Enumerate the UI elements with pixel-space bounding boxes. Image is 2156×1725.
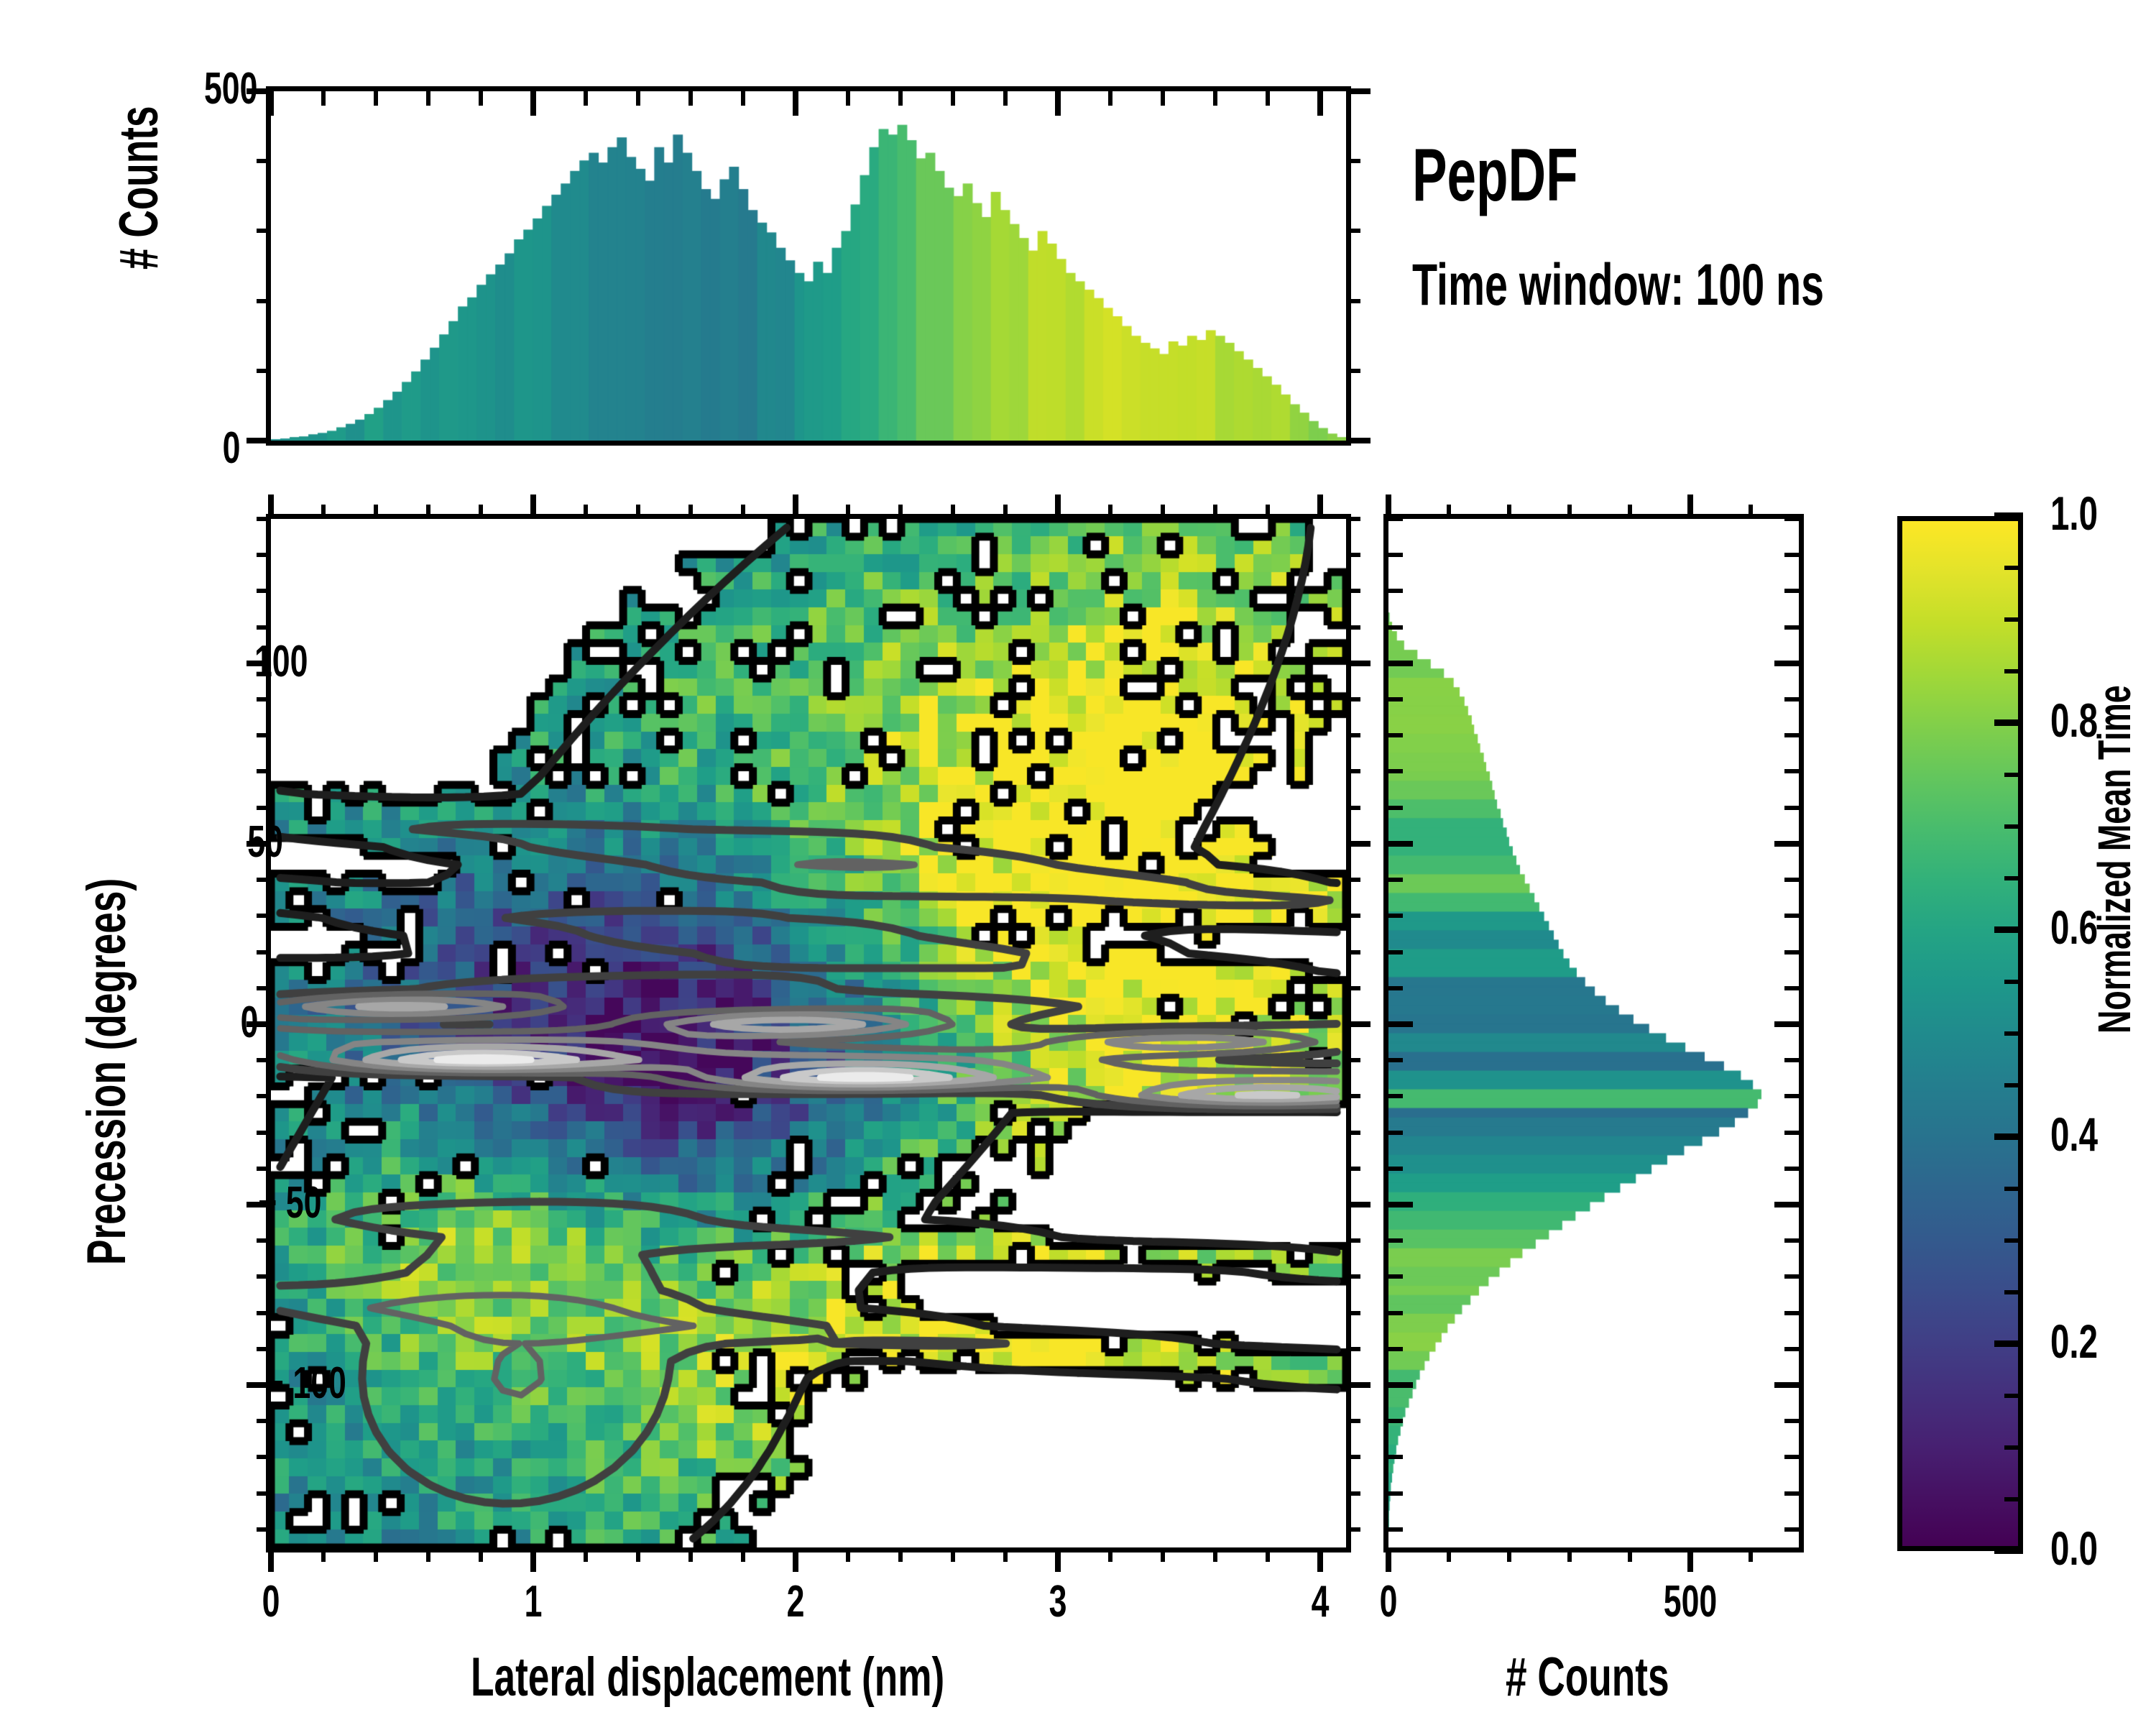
axis-tick (1994, 1547, 2023, 1554)
axis-tick (2004, 773, 2023, 777)
axis-tick (1784, 1131, 1799, 1135)
axis-tick-label: 0 (241, 997, 259, 1048)
axis-tick (321, 505, 326, 519)
axis-tick-label: 4 (1299, 1576, 1341, 1627)
axis-tick (1386, 1547, 1391, 1572)
top-ytick-0: 0 (223, 423, 241, 474)
axis-tick (479, 505, 483, 519)
axis-tick (1388, 841, 1413, 847)
axis-tick (1388, 806, 1403, 810)
axis-tick (1774, 661, 1799, 666)
axis-tick (1346, 1167, 1360, 1171)
axis-tick-label: 0 (250, 1576, 292, 1627)
axis-tick (1507, 1547, 1511, 1562)
axis-tick (1055, 494, 1061, 519)
axis-tick (257, 878, 271, 882)
axis-tick-label: 50 (247, 816, 283, 868)
axis-tick (1266, 505, 1270, 519)
axis-tick (1346, 553, 1360, 557)
axis-tick (1346, 1021, 1370, 1027)
axis-tick (1388, 1058, 1403, 1062)
axis-tick (1687, 1547, 1693, 1572)
axis-tick (257, 299, 271, 303)
axis-tick (321, 1547, 326, 1562)
axis-tick-label: 0.4 (2050, 1107, 2098, 1161)
axis-tick (2004, 669, 2023, 673)
axis-tick (1784, 589, 1799, 593)
axis-tick (257, 1527, 271, 1532)
axis-tick (1388, 1527, 1403, 1532)
axis-tick (257, 914, 271, 918)
axis-tick (1346, 661, 1370, 666)
axis-tick-label: 0.0 (2050, 1521, 2098, 1575)
axis-tick (1784, 625, 1799, 630)
axis-tick (1388, 553, 1403, 557)
axis-tick (1447, 1547, 1451, 1562)
axis-tick (321, 91, 326, 106)
axis-tick (1003, 505, 1008, 519)
axis-tick (1774, 1021, 1799, 1027)
axis-tick (1388, 914, 1403, 918)
axis-tick (257, 806, 271, 810)
axis-tick (1346, 1058, 1360, 1062)
axis-tick (247, 438, 271, 443)
axis-tick (426, 505, 430, 519)
axis-tick (1317, 91, 1323, 116)
axis-tick (1388, 878, 1403, 882)
axis-tick (1388, 1419, 1403, 1423)
axis-tick (530, 1547, 536, 1572)
axis-tick (1266, 1547, 1270, 1562)
axis-tick (1346, 369, 1360, 373)
axis-tick (479, 1547, 483, 1562)
axis-tick (1161, 91, 1165, 106)
axis-tick (1346, 1238, 1360, 1243)
axis-tick (257, 1347, 271, 1351)
page-subtitle: Time window: 100 ns (1412, 252, 1824, 319)
axis-tick (268, 91, 274, 116)
top-ylabel: # Counts (108, 106, 170, 270)
axis-tick (1388, 1382, 1413, 1388)
axis-tick (257, 1094, 271, 1098)
axis-tick (1346, 1527, 1360, 1532)
axis-tick (1346, 589, 1360, 593)
axis-tick (374, 91, 378, 106)
axis-tick (1784, 517, 1799, 521)
axis-tick (898, 91, 903, 106)
right-histogram-xlabel: # Counts (1506, 1646, 1669, 1708)
axis-tick (1346, 769, 1360, 773)
axis-tick (1388, 1274, 1403, 1279)
axis-tick (1346, 1491, 1360, 1496)
axis-tick (1346, 625, 1360, 630)
axis-tick (636, 91, 640, 106)
axis-tick (898, 505, 903, 519)
axis-tick (257, 1238, 271, 1243)
axis-tick (374, 1547, 378, 1562)
axis-tick (1346, 1274, 1360, 1279)
axis-tick (1108, 91, 1112, 106)
axis-tick (951, 91, 955, 106)
axis-tick (1346, 878, 1360, 882)
axis-tick (1784, 950, 1799, 954)
axis-tick (247, 88, 271, 94)
axis-tick (1003, 91, 1008, 106)
axis-tick (1784, 1455, 1799, 1459)
axis-tick (426, 1547, 430, 1562)
axis-tick (584, 505, 588, 519)
axis-tick (1346, 1131, 1360, 1135)
axis-tick (636, 1547, 640, 1562)
axis-tick (257, 589, 271, 593)
axis-tick (257, 769, 271, 773)
top-histogram-canvas (271, 91, 1346, 441)
axis-tick (1784, 986, 1799, 990)
axis-tick (1749, 505, 1753, 519)
axis-tick (1213, 1547, 1217, 1562)
axis-tick (2004, 1497, 2023, 1501)
axis-tick (1784, 1167, 1799, 1171)
axis-tick (1213, 505, 1217, 519)
axis-tick (1317, 1547, 1323, 1572)
axis-tick (1784, 1347, 1799, 1351)
axis-tick (1784, 697, 1799, 701)
axis-tick (1346, 841, 1370, 847)
axis-tick (1346, 1094, 1360, 1098)
axis-tick (257, 1491, 271, 1496)
axis-tick (1784, 553, 1799, 557)
heatmap-ylabel: Precession (degrees) (75, 878, 138, 1265)
axis-tick (257, 1058, 271, 1062)
axis-tick (257, 697, 271, 701)
axis-tick-label: 1.0 (2050, 486, 2098, 540)
axis-tick (1784, 769, 1799, 773)
axis-tick (1784, 1491, 1799, 1496)
axis-tick (1346, 229, 1360, 233)
axis-tick (257, 1455, 271, 1459)
axis-tick (951, 1547, 955, 1562)
axis-tick (1388, 625, 1403, 630)
axis-tick (1388, 1311, 1403, 1315)
axis-tick (688, 1547, 693, 1562)
axis-tick-label: − 100 (265, 1358, 346, 1409)
axis-tick (1388, 1131, 1403, 1135)
axis-tick (1346, 438, 1370, 443)
axis-tick (1388, 1455, 1403, 1459)
axis-tick-label: 2 (775, 1576, 816, 1627)
axis-tick (1346, 1455, 1360, 1459)
axis-tick (426, 91, 430, 106)
axis-tick (2004, 566, 2023, 570)
axis-tick (1317, 494, 1323, 519)
axis-tick-label: 0.6 (2050, 900, 2098, 954)
axis-tick (257, 950, 271, 954)
axis-tick (2004, 1290, 2023, 1294)
axis-tick (1388, 1021, 1413, 1027)
axis-tick (584, 91, 588, 106)
axis-tick (1388, 1167, 1403, 1171)
axis-tick (257, 1419, 271, 1423)
axis-tick (1994, 719, 2023, 726)
axis-tick (1388, 589, 1403, 593)
axis-tick (1749, 1547, 1753, 1562)
axis-tick (1784, 1238, 1799, 1243)
heatmap-canvas (271, 519, 1346, 1547)
colorbar-gradient (1902, 521, 2018, 1546)
axis-tick (1388, 733, 1403, 737)
axis-tick (257, 553, 271, 557)
axis-tick (1687, 494, 1693, 519)
axis-tick (1346, 88, 1370, 94)
axis-tick (1388, 1347, 1403, 1351)
axis-tick (793, 91, 798, 116)
axis-tick (1346, 159, 1360, 163)
axis-tick (2004, 1238, 2023, 1243)
axis-tick (257, 369, 271, 373)
axis-tick (741, 91, 745, 106)
axis-tick (846, 1547, 850, 1562)
heatmap-xlabel: Lateral displacement (nm) (471, 1646, 944, 1708)
axis-tick (1994, 1340, 2023, 1347)
axis-tick-label: 0 (1358, 1576, 1419, 1627)
axis-tick (1346, 1311, 1360, 1315)
axis-tick (2004, 980, 2023, 984)
axis-tick-label: − 50 (258, 1177, 321, 1228)
axis-tick (257, 625, 271, 630)
axis-tick (1346, 517, 1360, 521)
axis-tick (2004, 1445, 2023, 1450)
axis-tick (1784, 878, 1799, 882)
axis-tick (1266, 91, 1270, 106)
axis-tick (1346, 986, 1360, 990)
axis-tick (1784, 1094, 1799, 1098)
axis-tick (1108, 1547, 1112, 1562)
axis-tick (1346, 697, 1360, 701)
axis-tick (1994, 512, 2023, 519)
axis-tick (2004, 1083, 2023, 1087)
axis-tick (1213, 91, 1217, 106)
axis-tick (1346, 1347, 1360, 1351)
axis-tick (1346, 806, 1360, 810)
axis-tick-label: 1 (512, 1576, 554, 1627)
axis-tick (1346, 914, 1360, 918)
axis-tick (1784, 1311, 1799, 1315)
axis-tick (1784, 1419, 1799, 1423)
axis-tick (846, 91, 850, 106)
axis-tick (898, 1547, 903, 1562)
axis-tick (257, 733, 271, 737)
axis-tick-label: 100 (254, 636, 308, 687)
axis-tick (1346, 733, 1360, 737)
axis-tick (2004, 824, 2023, 829)
axis-tick (257, 1131, 271, 1135)
axis-tick (951, 505, 955, 519)
axis-tick (1774, 841, 1799, 847)
axis-tick (1388, 1202, 1413, 1207)
axis-tick (1388, 986, 1403, 990)
axis-tick (1346, 1419, 1360, 1423)
axis-tick (1388, 1094, 1403, 1098)
axis-tick (1388, 517, 1403, 521)
axis-tick (1388, 769, 1403, 773)
axis-tick (584, 1547, 588, 1562)
axis-tick (1784, 1527, 1799, 1532)
axis-tick (1346, 950, 1360, 954)
axis-tick (2004, 1031, 2023, 1036)
axis-tick (268, 494, 274, 519)
axis-tick (1784, 1058, 1799, 1062)
axis-tick (1055, 91, 1061, 116)
axis-tick (1784, 914, 1799, 918)
axis-tick (1388, 1238, 1403, 1243)
axis-tick (1388, 697, 1403, 701)
axis-tick (2004, 1187, 2023, 1191)
axis-tick (1784, 806, 1799, 810)
axis-tick (268, 1547, 274, 1572)
axis-tick-label: 0.8 (2050, 693, 2098, 747)
axis-tick-label: 500 (1659, 1576, 1721, 1627)
page-title: PepDF (1412, 133, 1578, 218)
axis-tick (793, 1547, 798, 1572)
axis-tick (1161, 505, 1165, 519)
axis-tick-label: 0.2 (2050, 1314, 2098, 1368)
axis-tick (1628, 1547, 1632, 1562)
axis-tick (1386, 494, 1391, 519)
axis-tick (1784, 733, 1799, 737)
axis-tick (1346, 299, 1360, 303)
axis-tick (2004, 617, 2023, 622)
axis-tick (1161, 1547, 1165, 1562)
axis-tick (479, 91, 483, 106)
axis-tick (688, 505, 693, 519)
axis-tick (257, 159, 271, 163)
axis-tick-label: 3 (1037, 1576, 1079, 1627)
figure-root: 500 0 # Counts PepDF Time window: 100 ns… (0, 0, 2156, 1725)
axis-tick (2004, 1394, 2023, 1398)
axis-tick (1994, 926, 2023, 933)
axis-tick (636, 505, 640, 519)
axis-tick (1774, 1382, 1799, 1388)
axis-tick (257, 1274, 271, 1279)
axis-tick (1567, 1547, 1572, 1562)
axis-tick (688, 91, 693, 106)
axis-tick (257, 229, 271, 233)
axis-tick (1628, 505, 1632, 519)
axis-tick (1055, 1547, 1061, 1572)
axis-tick (1346, 1382, 1370, 1388)
axis-tick (1108, 505, 1112, 519)
axis-tick (1994, 1133, 2023, 1140)
axis-tick (257, 517, 271, 521)
axis-tick (1388, 661, 1413, 666)
axis-tick (530, 494, 536, 519)
axis-tick (1784, 1274, 1799, 1279)
axis-tick (257, 1167, 271, 1171)
axis-tick (793, 494, 798, 519)
axis-tick (1567, 505, 1572, 519)
axis-tick (1388, 1491, 1403, 1496)
axis-tick (1388, 950, 1403, 954)
axis-tick (1507, 505, 1511, 519)
axis-tick (530, 91, 536, 116)
axis-tick (257, 1311, 271, 1315)
axis-tick (1003, 1547, 1008, 1562)
axis-tick (1774, 1202, 1799, 1207)
axis-tick (741, 1547, 745, 1562)
axis-tick (374, 505, 378, 519)
right-histogram-canvas (1388, 519, 1799, 1547)
axis-tick (846, 505, 850, 519)
axis-tick (1346, 1202, 1370, 1207)
axis-tick (257, 986, 271, 990)
axis-tick (1447, 505, 1451, 519)
axis-tick (2004, 876, 2023, 880)
axis-tick (741, 505, 745, 519)
